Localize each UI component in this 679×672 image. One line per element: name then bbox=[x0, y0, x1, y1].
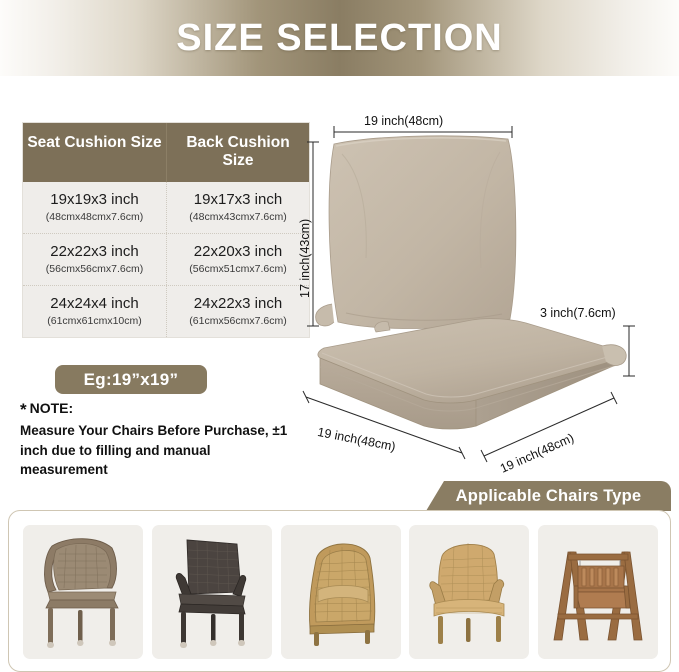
asterisk-icon: * bbox=[20, 400, 27, 419]
chair-card bbox=[538, 525, 658, 659]
table-row: 22x22x3 inch (56cmx56cmx7.6cm) 22x20x3 i… bbox=[23, 233, 309, 285]
round-back-wicker-armchair-icon bbox=[28, 530, 138, 654]
chair-card bbox=[281, 525, 401, 659]
table-cell-seat-size: 24x24x4 inch (61cmx61cmx10cm) bbox=[23, 286, 166, 337]
seat-size-cm: (61cmx61cmx10cm) bbox=[26, 315, 163, 327]
note-heading: *NOTE: bbox=[20, 400, 290, 420]
seat-size-inch: 24x24x4 inch bbox=[26, 295, 163, 313]
note-block: *NOTE: Measure Your Chairs Before Purcha… bbox=[20, 400, 290, 480]
note-heading-label: NOTE: bbox=[30, 400, 74, 416]
natural-rattan-armchair-icon bbox=[414, 530, 524, 654]
dark-wicker-high-back-armchair-icon bbox=[157, 530, 267, 654]
chair-card bbox=[409, 525, 529, 659]
cushion-diagram: 19 inch(48cm) 17 inch(43cm) 3 inch(7.6cm… bbox=[276, 108, 679, 468]
seat-size-inch: 22x22x3 inch bbox=[26, 243, 163, 261]
dimension-label-back-height: 17 inch(43cm) bbox=[298, 219, 312, 298]
table-row: 24x24x4 inch (61cmx61cmx10cm) 24x22x3 in… bbox=[23, 285, 309, 337]
page-header-banner: SIZE SELECTION bbox=[0, 0, 679, 76]
note-body: Measure Your Chairs Before Purchase, ±1 … bbox=[20, 421, 290, 480]
table-cell-seat-size: 19x19x3 inch (48cmx48cmx7.6cm) bbox=[23, 182, 166, 233]
page-title: SIZE SELECTION bbox=[176, 17, 502, 60]
cushion-illustration bbox=[276, 108, 679, 468]
applicable-chairs-panel bbox=[8, 510, 671, 672]
dimension-label-back-width: 19 inch(48cm) bbox=[364, 114, 443, 128]
seat-size-cm: (48cmx48cmx7.6cm) bbox=[26, 211, 163, 223]
chair-photo-row bbox=[23, 525, 658, 659]
column-header-seat-cushion-size: Seat Cushion Size bbox=[23, 123, 166, 182]
size-table: Seat Cushion Size Back Cushion Size 19x1… bbox=[22, 122, 310, 338]
seat-cushion-shape bbox=[318, 319, 626, 429]
seat-size-inch: 19x19x3 inch bbox=[26, 191, 163, 209]
size-table-header-row: Seat Cushion Size Back Cushion Size bbox=[23, 123, 309, 182]
seat-size-cm: (56cmx56cmx7.6cm) bbox=[26, 263, 163, 275]
applicable-chairs-label: Applicable Chairs Type bbox=[456, 487, 642, 506]
wooden-porch-swing-icon bbox=[542, 530, 654, 654]
table-cell-seat-size: 22x22x3 inch (56cmx56cmx7.6cm) bbox=[23, 234, 166, 285]
applicable-chairs-banner: Applicable Chairs Type bbox=[426, 481, 671, 511]
chair-card bbox=[152, 525, 272, 659]
table-row: 19x19x3 inch (48cmx48cmx7.6cm) 19x17x3 i… bbox=[23, 182, 309, 233]
barrel-rattan-tub-chair-icon bbox=[286, 530, 396, 654]
dimension-label-back-depth: 3 inch(7.6cm) bbox=[540, 306, 616, 320]
back-cushion-shape bbox=[316, 136, 516, 329]
example-size-badge: Eg:19”x19” bbox=[55, 365, 207, 394]
chair-card bbox=[23, 525, 143, 659]
